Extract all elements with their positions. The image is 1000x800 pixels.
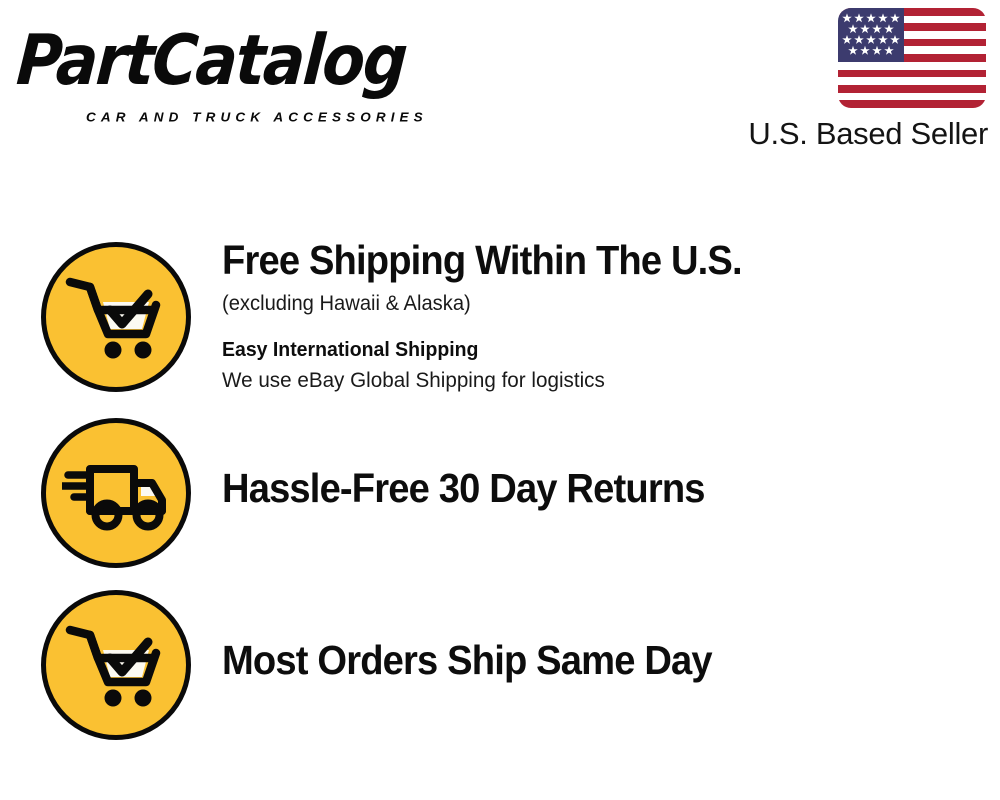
benefit-row: Most Orders Ship Same Day [0,590,1000,750]
promo-banner-page: { "header": { "brand": { "wordmark": "Pa… [0,0,1000,800]
brand-tagline: CAR AND TRUCK ACCESSORIES [86,110,428,124]
page-header: PartCatalog CAR AND TRUCK ACCESSORIES [0,0,1000,175]
benefit-title: Free Shipping Within The U.S. [222,236,910,285]
benefit-title: Hassle-Free 30 Day Returns [222,464,910,513]
delivery-truck-icon [41,418,191,568]
flag-stripe [838,100,986,108]
seller-location-label: U.S. Based Seller [748,116,988,152]
benefit-text-block: Free Shipping Within The U.S. (excluding… [222,236,962,395]
benefit-text-block: Hassle-Free 30 Day Returns [222,464,962,513]
benefit-text-block: Most Orders Ship Same Day [222,636,962,685]
flag-stripe [838,85,986,93]
flag-stripe [838,70,986,78]
flag-stars [838,8,904,62]
shopping-cart-check-icon [41,590,191,740]
shopping-cart-check-icon [41,242,191,392]
us-flag-icon [838,8,986,108]
benefit-title: Most Orders Ship Same Day [222,636,910,685]
brand-wordmark: PartCatalog [14,18,409,103]
flag-canton [838,8,904,62]
benefit-secondary-note: We use eBay Global Shipping for logistic… [222,365,932,395]
benefit-row: Hassle-Free 30 Day Returns [0,418,1000,578]
benefit-row: Free Shipping Within The U.S. (excluding… [0,236,1000,406]
partcatalog-logo[interactable]: PartCatalog CAR AND TRUCK ACCESSORIES [20,18,520,118]
benefit-subtitle: (excluding Hawaii & Alaska) [222,289,932,319]
benefit-secondary-title: Easy International Shipping [222,335,925,364]
us-flag-graphic [838,8,986,108]
